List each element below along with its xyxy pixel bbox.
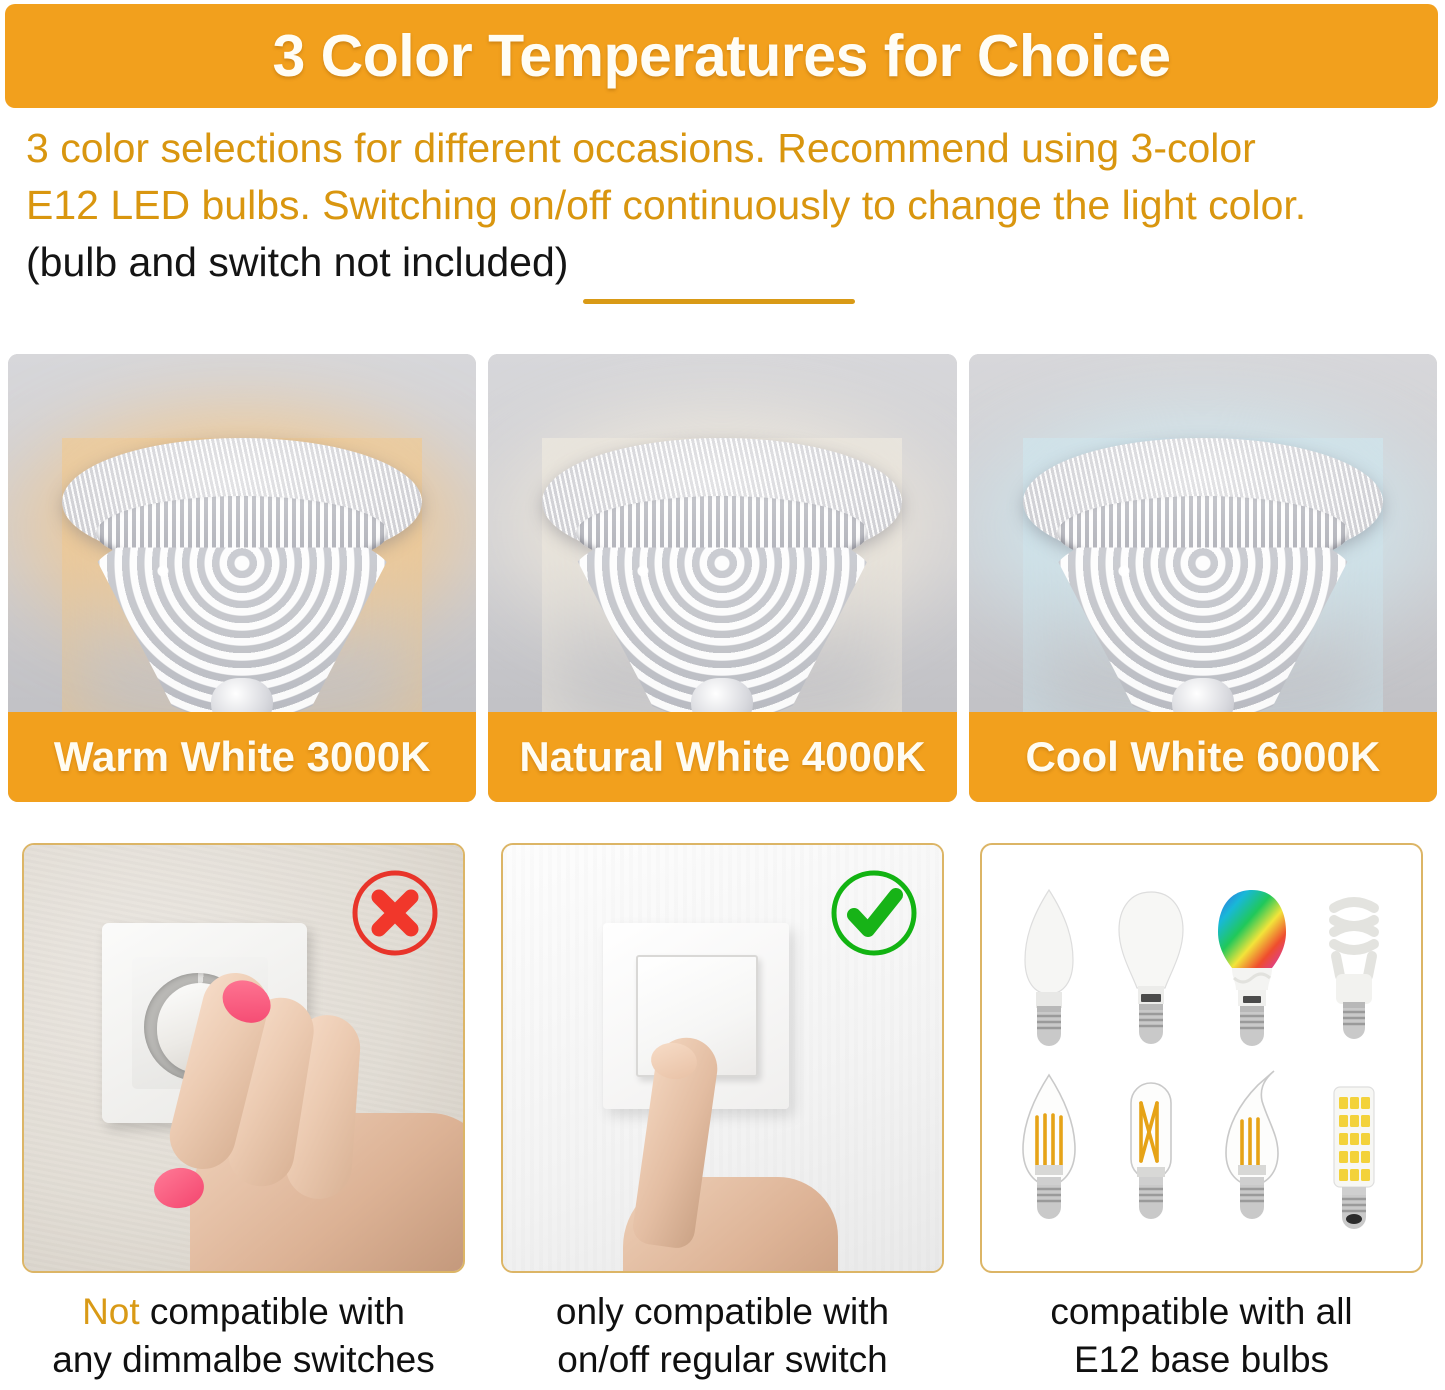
caption-highlight: Not bbox=[82, 1291, 140, 1332]
hand-pressing-switch bbox=[623, 1037, 863, 1273]
infographic-page: 3 Color Temperatures for Choice 3 color … bbox=[0, 0, 1445, 1390]
caption-line-2: E12 base bulbs bbox=[980, 1336, 1423, 1384]
compatibility-captions: Not compatible with any dimmalbe switche… bbox=[22, 1288, 1423, 1388]
color-temperature-label-bar: Natural White 4000K bbox=[488, 712, 956, 802]
color-temperature-card: Natural White 4000K bbox=[488, 354, 956, 802]
caption-dimmer: Not compatible with any dimmalbe switche… bbox=[22, 1288, 465, 1388]
caption-switch: only compatible with on/off regular swit… bbox=[501, 1288, 944, 1388]
caption-line-1: Not compatible with bbox=[22, 1288, 465, 1336]
crystal-chandelier bbox=[1023, 438, 1383, 738]
color-temperature-cards: Warm White 3000K Natural White 4000K bbox=[8, 354, 1437, 802]
intro-paragraph: 3 color selections for different occasio… bbox=[26, 120, 1426, 291]
caption-line-1: only compatible with bbox=[501, 1288, 944, 1336]
crystal-chandelier bbox=[542, 438, 902, 738]
banner-title: 3 Color Temperatures for Choice bbox=[272, 22, 1170, 90]
color-temperature-label-bar: Warm White 3000K bbox=[8, 712, 476, 802]
color-temperature-label: Natural White 4000K bbox=[519, 733, 925, 781]
compatibility-panels bbox=[22, 843, 1423, 1273]
intro-line-3: (bulb and switch not included) bbox=[26, 234, 1426, 291]
compatibility-panel-bulbs bbox=[980, 843, 1423, 1273]
rgb-color-changing-bulb bbox=[1202, 876, 1302, 1052]
frosted-globe-bulb bbox=[1101, 876, 1201, 1052]
crystal-chandelier bbox=[62, 438, 422, 738]
color-temperature-card: Warm White 3000K bbox=[8, 354, 476, 802]
color-temperature-card: Cool White 6000K bbox=[969, 354, 1437, 802]
chandelier-crystal-bowl bbox=[90, 524, 394, 720]
intro-line-1: 3 color selections for different occasio… bbox=[26, 120, 1426, 177]
compatibility-panel-dimmer bbox=[22, 843, 465, 1273]
red-x-icon bbox=[349, 867, 441, 959]
spiral-cfl-bulb bbox=[1304, 876, 1404, 1052]
color-temperature-label: Warm White 3000K bbox=[54, 733, 431, 781]
caption-line-2: on/off regular switch bbox=[501, 1336, 944, 1384]
clear-filament-tubular-bulb bbox=[1101, 1065, 1201, 1241]
intro-line-2: E12 LED bulbs. Switching on/off continuo… bbox=[26, 177, 1426, 234]
section-divider bbox=[583, 299, 855, 304]
led-corn-bulb bbox=[1304, 1065, 1404, 1241]
caption-line-2: any dimmalbe switches bbox=[22, 1336, 465, 1384]
chandelier-crystal-bowl bbox=[570, 524, 874, 720]
clear-filament-candle-bulb bbox=[999, 1065, 1099, 1241]
green-check-icon bbox=[828, 867, 920, 959]
caption-bulbs: compatible with all E12 base bulbs bbox=[980, 1288, 1423, 1388]
compatibility-panel-switch bbox=[501, 843, 944, 1273]
header-banner: 3 Color Temperatures for Choice bbox=[5, 4, 1438, 108]
caption-line-1: compatible with all bbox=[980, 1288, 1423, 1336]
clear-filament-flame-tip-bulb bbox=[1202, 1065, 1302, 1241]
caption-rest: compatible with bbox=[140, 1291, 405, 1332]
chandelier-crystal-bowl bbox=[1051, 524, 1355, 720]
hand-turning-knob bbox=[172, 963, 465, 1273]
color-temperature-label-bar: Cool White 6000K bbox=[969, 712, 1437, 802]
e12-bulb-grid bbox=[982, 845, 1421, 1271]
color-temperature-label: Cool White 6000K bbox=[1025, 733, 1380, 781]
frosted-candle-bulb bbox=[999, 876, 1099, 1052]
